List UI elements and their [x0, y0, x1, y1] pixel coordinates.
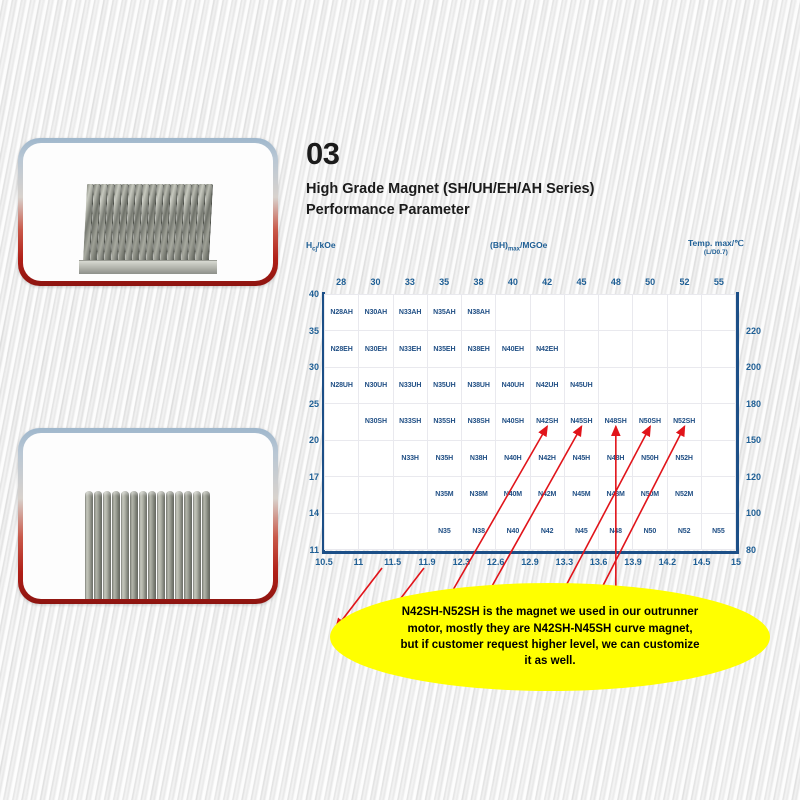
grade-cell-empty [325, 513, 359, 549]
grade-cell-N40M[interactable]: N40M [496, 477, 530, 513]
magnet-rod [121, 491, 129, 599]
grade-row-M: N35MN38MN40MN42MN45MN48MN50MN52M [325, 477, 736, 513]
grade-cell-N35M[interactable]: N35M [427, 477, 461, 513]
grade-cell-empty [393, 477, 427, 513]
grade-cell-N38[interactable]: N38 [462, 513, 496, 549]
x-tick-12.9: 12.9 [514, 557, 546, 567]
magnet-rod [184, 491, 192, 599]
grade-cell-N52SH[interactable]: N52SH [667, 404, 701, 440]
grade-cell-empty [667, 295, 701, 331]
grade-cell-N50M[interactable]: N50M [633, 477, 667, 513]
x-axis-line [322, 551, 739, 554]
photo-frame [23, 143, 273, 281]
magnet-rod [202, 491, 210, 599]
grade-cell-empty [325, 477, 359, 513]
grade-cell-N30UH[interactable]: N30UH [359, 367, 393, 403]
grade-cell-empty [667, 331, 701, 367]
grade-row-EH: N28EHN30EHN33EHN35EHN38EHN40EHN42EH [325, 331, 736, 367]
x-tick-15: 15 [720, 557, 752, 567]
product-photo-card-magnet-rods [18, 428, 278, 604]
grade-cell-N38EH[interactable]: N38EH [462, 331, 496, 367]
magnet-rod [175, 491, 183, 599]
magnet-rod [112, 491, 120, 599]
magnet-rod-row-image [85, 491, 211, 599]
callout-text: N42SH-N52SH is the magnet we used in our… [400, 604, 700, 669]
grade-cell-N45[interactable]: N45 [564, 513, 598, 549]
grade-cell-empty [633, 367, 667, 403]
grade-cell-N35AH[interactable]: N35AH [427, 295, 461, 331]
x-tick-12.6: 12.6 [480, 557, 512, 567]
grade-cell-N50[interactable]: N50 [633, 513, 667, 549]
grade-cell-N42[interactable]: N42 [530, 513, 564, 549]
grade-cell-N38M[interactable]: N38M [462, 477, 496, 513]
callout-bubble: N42SH-N52SH is the magnet we used in our… [330, 583, 770, 691]
x-tick-11.9: 11.9 [411, 557, 443, 567]
grade-cell-empty [359, 477, 393, 513]
grade-cell-N35UH[interactable]: N35UH [427, 367, 461, 403]
x-tick-10.5: 10.5 [308, 557, 340, 567]
grade-cell-empty [667, 367, 701, 403]
grade-cell-N48M[interactable]: N48M [599, 477, 633, 513]
grade-row-H: N33HN35HN38HN40HN42HN45HN48HN50HN52H [325, 440, 736, 476]
grade-cell-N38SH[interactable]: N38SH [462, 404, 496, 440]
grade-cell-N40UH[interactable]: N40UH [496, 367, 530, 403]
magnet-rod [94, 491, 102, 599]
grade-row-AH: N28AHN30AHN33AHN35AHN38AH [325, 295, 736, 331]
grade-cell-N45H[interactable]: N45H [564, 440, 598, 476]
grade-cell-N33H[interactable]: N33H [393, 440, 427, 476]
grade-cell-N52M[interactable]: N52M [667, 477, 701, 513]
grade-cell-empty [701, 440, 735, 476]
x-tick-12.3: 12.3 [445, 557, 477, 567]
grade-cell-N50SH[interactable]: N50SH [633, 404, 667, 440]
grade-cell-N38H[interactable]: N38H [462, 440, 496, 476]
grade-row-N: N35N38N40N42N45N48N50N52N55 [325, 513, 736, 549]
grade-cell-N42H[interactable]: N42H [530, 440, 564, 476]
grade-cell-empty [633, 295, 667, 331]
grade-cell-N35H[interactable]: N35H [427, 440, 461, 476]
grade-cell-N40[interactable]: N40 [496, 513, 530, 549]
grade-cell-N30AH[interactable]: N30AH [359, 295, 393, 331]
grade-cell-N45SH[interactable]: N45SH [564, 404, 598, 440]
grade-cell-N35SH[interactable]: N35SH [427, 404, 461, 440]
grade-cell-N33EH[interactable]: N33EH [393, 331, 427, 367]
grade-cell-N33SH[interactable]: N33SH [393, 404, 427, 440]
grade-cell-N52H[interactable]: N52H [667, 440, 701, 476]
x-tick-13.3: 13.3 [548, 557, 580, 567]
grade-cell-N40H[interactable]: N40H [496, 440, 530, 476]
grade-cell-N45M[interactable]: N45M [564, 477, 598, 513]
magnet-rod [157, 491, 165, 599]
page-title: High Grade Magnet (SH/UH/EH/AH Series) P… [306, 179, 776, 221]
content-header: 03 High Grade Magnet (SH/UH/EH/AH Series… [306, 138, 776, 221]
x-tick-14.5: 14.5 [686, 557, 718, 567]
grade-cell-empty [633, 331, 667, 367]
grade-cell-N40EH[interactable]: N40EH [496, 331, 530, 367]
grade-row-SH: N30SHN33SHN35SHN38SHN40SHN42SHN45SHN48SH… [325, 404, 736, 440]
grade-cell-empty [393, 513, 427, 549]
grade-cell-empty [599, 295, 633, 331]
grade-cell-N52[interactable]: N52 [667, 513, 701, 549]
grade-cell-empty [701, 477, 735, 513]
magnet-rod [85, 491, 93, 599]
grade-cell-N45UH[interactable]: N45UH [564, 367, 598, 403]
x-tick-11.5: 11.5 [377, 557, 409, 567]
grade-grid: N28AHN30AHN33AHN35AHN38AHN28EHN30EHN33EH… [324, 294, 736, 550]
grade-cell-empty [564, 295, 598, 331]
grade-cell-empty [701, 331, 735, 367]
magnet-rod [103, 491, 111, 599]
grade-cell-N38UH[interactable]: N38UH [462, 367, 496, 403]
magnet-rod [193, 491, 201, 599]
grade-cell-empty [564, 331, 598, 367]
grade-cell-N35[interactable]: N35 [427, 513, 461, 549]
x-tick-13.9: 13.9 [617, 557, 649, 567]
grade-cell-N55[interactable]: N55 [701, 513, 735, 549]
page-title-line1: High Grade Magnet (SH/UH/EH/AH Series) [306, 179, 776, 200]
grade-cell-N35EH[interactable]: N35EH [427, 331, 461, 367]
grade-row-UH: N28UHN30UHN33UHN35UHN38UHN40UHN42UHN45UH [325, 367, 736, 403]
product-photo-card-magnet-blocks [18, 138, 278, 286]
grade-cell-N42SH[interactable]: N42SH [530, 404, 564, 440]
grade-cell-empty [359, 513, 393, 549]
magnet-rod [139, 491, 147, 599]
grade-cell-empty [325, 440, 359, 476]
grade-cell-empty [530, 295, 564, 331]
grade-cell-empty [701, 295, 735, 331]
grade-cell-N28EH[interactable]: N28EH [325, 331, 359, 367]
grade-cell-N30SH[interactable]: N30SH [359, 404, 393, 440]
magnet-rod [166, 491, 174, 599]
y-axis-right-line [736, 292, 739, 554]
grade-cell-N33AH[interactable]: N33AH [393, 295, 427, 331]
grade-table: N28AHN30AHN33AHN35AHN38AHN28EHN30EHN33EH… [324, 294, 736, 550]
photo-frame [23, 433, 273, 599]
grade-cell-empty [599, 331, 633, 367]
grade-cell-empty [599, 367, 633, 403]
section-number: 03 [306, 138, 776, 171]
grade-cell-N42UH[interactable]: N42UH [530, 367, 564, 403]
grade-cell-N48[interactable]: N48 [599, 513, 633, 549]
grade-cell-N48H[interactable]: N48H [599, 440, 633, 476]
grade-cell-N40SH[interactable]: N40SH [496, 404, 530, 440]
x-tick-11: 11 [342, 557, 374, 567]
grade-cell-empty [701, 367, 735, 403]
grade-cell-N42M[interactable]: N42M [530, 477, 564, 513]
grade-cell-N28UH[interactable]: N28UH [325, 367, 359, 403]
grade-cell-empty [701, 404, 735, 440]
grade-cell-N28AH[interactable]: N28AH [325, 295, 359, 331]
x-tick-13.6: 13.6 [583, 557, 615, 567]
grade-cell-N50H[interactable]: N50H [633, 440, 667, 476]
grade-cell-empty [359, 440, 393, 476]
magnet-stack-base [79, 260, 217, 274]
performance-chart: Hcj/kOe (BH)max/MGOe Temp. max/℃ (L/D0.7… [300, 236, 790, 582]
page-title-line2: Performance Parameter [306, 200, 776, 221]
grade-cell-N38AH[interactable]: N38AH [462, 295, 496, 331]
grade-cell-N42EH[interactable]: N42EH [530, 331, 564, 367]
grade-cell-empty [496, 295, 530, 331]
grade-cell-N48SH[interactable]: N48SH [599, 404, 633, 440]
x-tick-14.2: 14.2 [651, 557, 683, 567]
grade-cell-N30EH[interactable]: N30EH [359, 331, 393, 367]
grade-cell-N33UH[interactable]: N33UH [393, 367, 427, 403]
grade-cell-empty [325, 404, 359, 440]
magnet-rod [148, 491, 156, 599]
magnet-rod [130, 491, 138, 599]
magnet-block-stack-image [85, 184, 211, 262]
